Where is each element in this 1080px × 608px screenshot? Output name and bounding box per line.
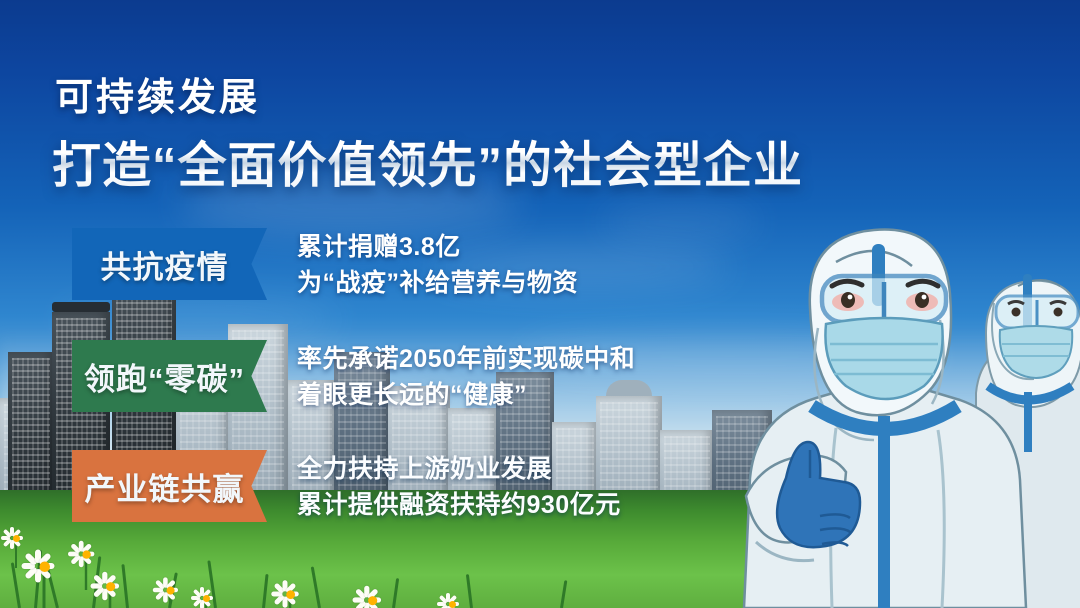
badge-pandemic[interactable]: 共抗疫情 [72, 228, 267, 300]
highlight-row: 共抗疫情 累计捐赠3.8亿 为“战疫”补给营养与物资 [0, 228, 1080, 304]
highlight-line-1: 累计捐赠3.8亿 [297, 230, 578, 266]
highlight-rows: 共抗疫情 累计捐赠3.8亿 为“战疫”补给营养与物资 领跑“零碳” 率先承诺20… [0, 0, 1080, 608]
badge-label: 产业链共赢 [85, 464, 245, 509]
badge-supply-chain[interactable]: 产业链共赢 [72, 450, 267, 522]
highlight-text-block: 全力扶持上游奶业发展 累计提供融资扶持约930亿元 [297, 452, 621, 523]
highlight-row: 产业链共赢 全力扶持上游奶业发展 累计提供融资扶持约930亿元 [0, 450, 1080, 526]
badge-zero-carbon[interactable]: 领跑“零碳” [72, 340, 267, 412]
highlight-line-2: 累计提供融资扶持约930亿元 [297, 488, 621, 524]
badge-label: 共抗疫情 [101, 242, 229, 287]
highlight-line-1: 率先承诺2050年前实现碳中和 [297, 342, 635, 378]
badge-label: 领跑“零碳” [84, 354, 245, 399]
highlight-row: 领跑“零碳” 率先承诺2050年前实现碳中和 着眼更长远的“健康” [0, 340, 1080, 416]
highlight-text-block: 累计捐赠3.8亿 为“战疫”补给营养与物资 [297, 230, 578, 301]
highlight-line-2: 为“战疫”补给营养与物资 [297, 266, 578, 302]
sustainability-poster: 可持续发展 打造“全面价值领先”的社会型企业 共抗疫情 累计捐赠3.8亿 为“战… [0, 0, 1080, 608]
highlight-text-block: 率先承诺2050年前实现碳中和 着眼更长远的“健康” [297, 342, 635, 413]
highlight-line-1: 全力扶持上游奶业发展 [297, 452, 621, 488]
highlight-line-2: 着眼更长远的“健康” [297, 378, 635, 414]
